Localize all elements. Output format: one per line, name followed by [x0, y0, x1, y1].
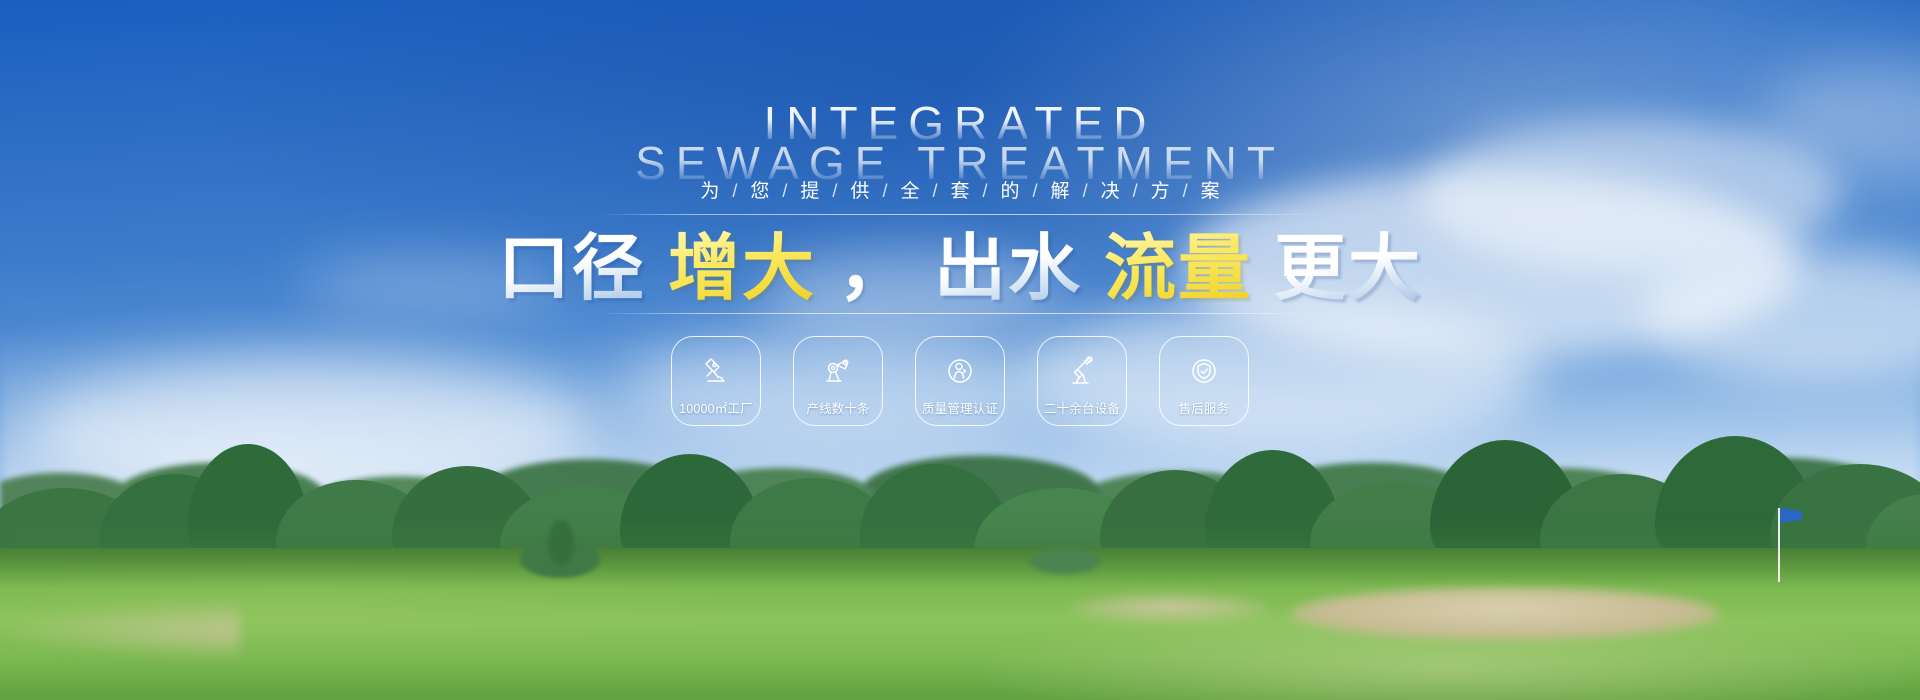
- subtitle-char: 方: [1138, 182, 1183, 201]
- headline-segment: 口径: [498, 229, 646, 309]
- banner-content: INTEGRATED SEWAGE TREATMENT 为 / 您 / 提 / …: [0, 0, 1920, 700]
- certified-person-icon: [941, 352, 979, 390]
- subtitle-separator: /: [1133, 182, 1138, 200]
- subtitle-block: 为 / 您 / 提 / 供 / 全 / 套 / 的 / 解 / 决 / 方 /: [0, 182, 1920, 201]
- feature-badge-list: 10000㎡工厂 产线数十条: [0, 336, 1920, 426]
- divider-top: [595, 214, 1325, 215]
- subtitle-separator: /: [932, 182, 937, 200]
- headline-segment: 增大: [668, 229, 816, 309]
- subtitle-separator: /: [732, 182, 737, 200]
- feature-badge-factory[interactable]: 10000㎡工厂: [671, 336, 761, 426]
- main-headline: 口径 增大 ， 出水 流量 更大: [0, 228, 1920, 311]
- subtitle-separator: /: [882, 182, 887, 200]
- headline-segment: 出水: [934, 229, 1082, 309]
- subtitle-char: 解: [1038, 182, 1083, 201]
- subtitle-char: 供: [837, 182, 882, 201]
- production-machine-icon: [819, 352, 857, 390]
- feature-badge-label: 售后服务: [1179, 398, 1230, 417]
- subtitle-char: 提: [787, 182, 832, 201]
- subtitle-separator: /: [1183, 182, 1188, 200]
- subtitle-char: 的: [988, 182, 1033, 201]
- feature-badge-equipment[interactable]: 二十余台设备: [1037, 336, 1127, 426]
- feature-badge-quality-cert[interactable]: 质量管理认证: [915, 336, 1005, 426]
- subtitle-separator: /: [1083, 182, 1088, 200]
- feature-badge-label: 10000㎡工厂: [679, 398, 753, 417]
- subtitle-char: 为: [687, 182, 732, 201]
- shield-check-icon: [1185, 352, 1223, 390]
- feature-badge-production-lines[interactable]: 产线数十条: [793, 336, 883, 426]
- subtitle-char: 决: [1088, 182, 1133, 201]
- subtitle-char: 案: [1188, 182, 1233, 201]
- subtitle-row: 为 / 您 / 提 / 供 / 全 / 套 / 的 / 解 / 决 / 方 /: [687, 182, 1232, 201]
- equipment-tool-icon: [1063, 352, 1101, 390]
- headline-segment: 更大: [1274, 229, 1422, 309]
- subtitle-separator: /: [983, 182, 988, 200]
- english-line-2: SEWAGE TREATMENT: [0, 140, 1920, 186]
- feature-badge-label: 质量管理认证: [922, 398, 998, 417]
- microscope-icon: [697, 352, 735, 390]
- hero-banner: INTEGRATED SEWAGE TREATMENT 为 / 您 / 提 / …: [0, 0, 1920, 700]
- subtitle-char: 全: [887, 182, 932, 201]
- feature-badge-label: 产线数十条: [806, 398, 870, 417]
- subtitle-separator: /: [782, 182, 787, 200]
- subtitle-separator: /: [832, 182, 837, 200]
- english-headline-block: INTEGRATED SEWAGE TREATMENT: [0, 100, 1920, 186]
- subtitle-separator: /: [1033, 182, 1038, 200]
- subtitle-char: 套: [937, 182, 982, 201]
- headline-segment: 流量: [1104, 229, 1252, 309]
- headline-segment: ，: [838, 229, 912, 309]
- subtitle-char: 您: [737, 182, 782, 201]
- feature-badge-label: 二十余台设备: [1044, 398, 1120, 417]
- feature-badge-after-sales[interactable]: 售后服务: [1159, 336, 1249, 426]
- divider-bottom: [595, 313, 1325, 314]
